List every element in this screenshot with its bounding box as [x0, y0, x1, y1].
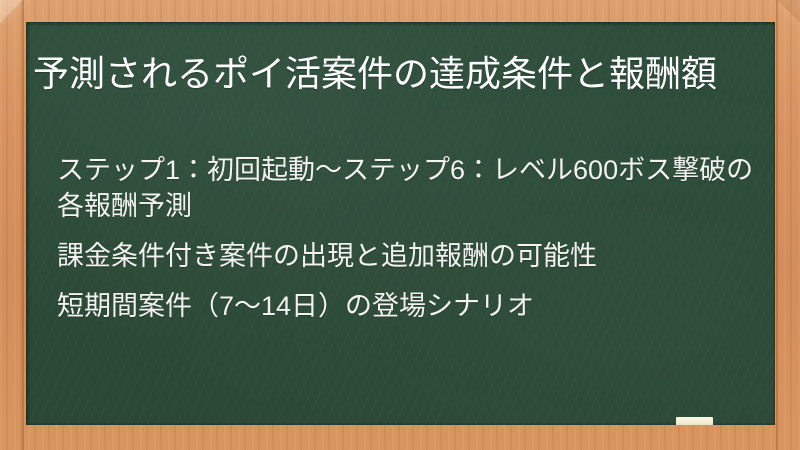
bullet-list: ステップ1：初回起動〜ステップ6：レベル600ボス撃破の各報酬予測 課金条件付き… [57, 152, 757, 324]
chalk-stick-icon [676, 417, 713, 425]
frame-miter-diagonal-top-right [777, 0, 800, 23]
bullet-item-2: 課金条件付き案件の出現と追加報酬の可能性 [57, 238, 757, 274]
frame-seam-left [22, 0, 24, 450]
bullet-item-1: ステップ1：初回起動〜ステップ6：レベル600ボス撃破の各報酬予測 [57, 152, 757, 224]
chalkboard-surface: 予測されるポイ活案件の達成条件と報酬額 ステップ1：初回起動〜ステップ6：レベル… [26, 22, 775, 425]
slide-title: 予測されるポイ活案件の達成条件と報酬額 [33, 50, 753, 98]
frame-corner-highlight-top-right [770, 0, 800, 24]
frame-corner-highlight-top-left [0, 0, 30, 24]
bullet-item-3: 短期間案件（7〜14日）の登場シナリオ [57, 288, 757, 324]
chalkboard-slide: 予測されるポイ活案件の達成条件と報酬額 ステップ1：初回起動〜ステップ6：レベル… [0, 0, 800, 450]
frame-seam-right [776, 0, 778, 450]
frame-miter-diagonal-top-left [0, 0, 23, 23]
